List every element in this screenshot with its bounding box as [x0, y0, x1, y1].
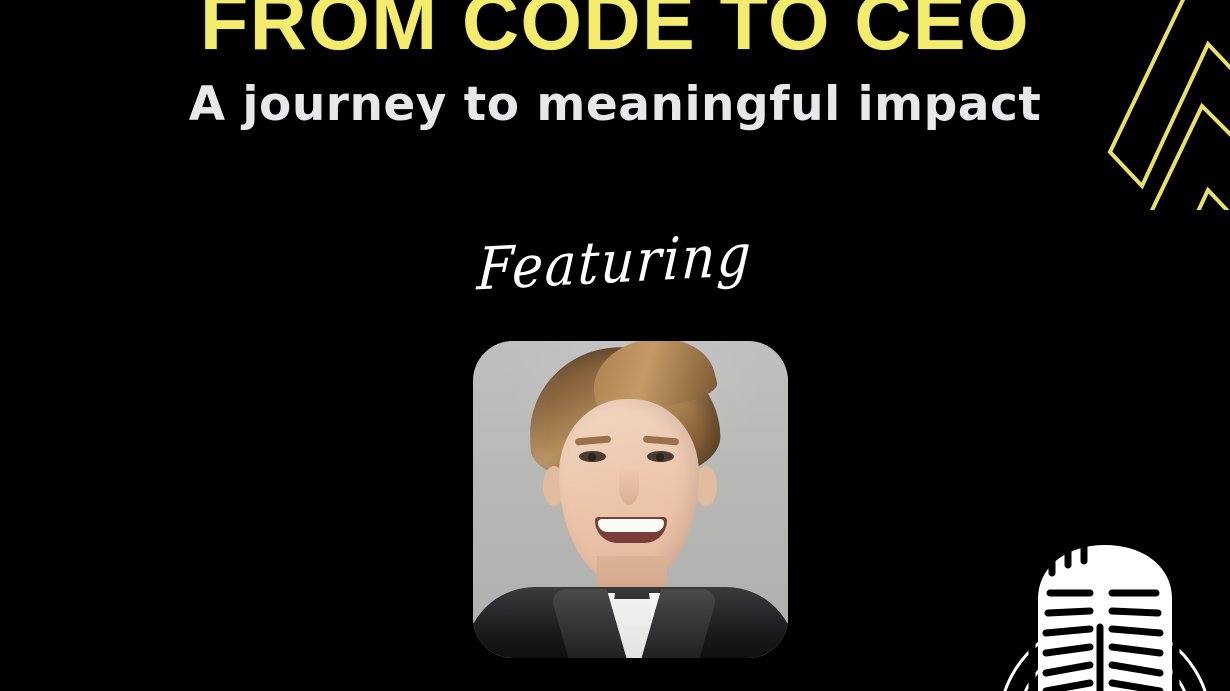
mic-sound-arc: [1020, 641, 1190, 691]
mic-grille-slat: [1112, 683, 1160, 691]
page-title: FROM CODE TO CEO: [0, 0, 1230, 61]
portrait-nose: [619, 469, 639, 505]
featuring-label: Featuring: [0, 200, 1230, 327]
portrait-eye-left: [579, 451, 606, 462]
portrait-eye-right: [647, 451, 674, 462]
mic-grille-slat: [1046, 647, 1090, 653]
portrait-teeth: [598, 519, 664, 532]
guest-portrait-card: [473, 341, 788, 658]
featuring-label-text: Featuring: [476, 221, 755, 306]
mic-sound-arc: [1038, 661, 1172, 691]
portrait-mouth: [595, 517, 667, 543]
mic-grille-slat: [1112, 611, 1158, 613]
retro-microphone-icon: [980, 531, 1230, 691]
mic-grille-slat: [1112, 629, 1160, 633]
podcast-poster: FROM CODE TO CEO A journey to meaningful…: [0, 0, 1230, 691]
mic-head: [1038, 545, 1172, 691]
mic-sound-arc: [1002, 620, 1208, 691]
page-subtitle: A journey to meaningful impact: [0, 81, 1230, 128]
guest-portrait-photo: [473, 341, 788, 658]
mic-grille-slat: [1112, 647, 1160, 653]
mic-grille-slat: [1046, 629, 1090, 633]
mic-grille-slat: [1046, 665, 1090, 673]
mic-grille-slat: [1112, 665, 1160, 673]
mic-grille-slat: [1046, 683, 1090, 691]
mic-grille-slat: [1048, 611, 1090, 613]
